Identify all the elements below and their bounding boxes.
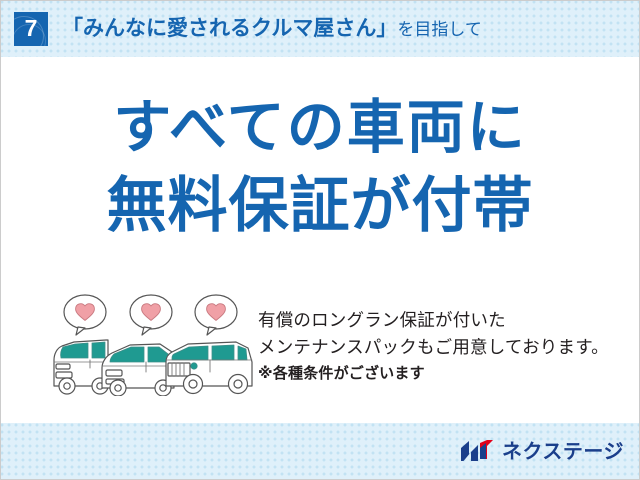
headline-line-1: すべての車両に bbox=[0, 98, 640, 156]
body-copy-line-2: メンテナンスパックもご用意しております。 bbox=[258, 335, 630, 362]
header-title-quoted: 「みんなに愛されるクルマ屋さん」 bbox=[62, 16, 397, 40]
body-copy-note: ※各種条件がございます bbox=[258, 361, 630, 387]
header: 7 「みんなに愛されるクルマ屋さん」を目指して bbox=[0, 0, 640, 57]
header-title: 「みんなに愛されるクルマ屋さん」を目指して bbox=[62, 18, 482, 39]
headline: すべての車両に 無料保証が付帯 bbox=[0, 98, 640, 236]
brand-logo: ネクステージ bbox=[460, 437, 624, 465]
promotional-slide: 7 「みんなに愛されるクルマ屋さん」を目指して すべての車両に 無料保証が付帯 bbox=[0, 0, 640, 480]
section-number-label: 7 bbox=[14, 12, 48, 46]
nexstage-n-mark-icon bbox=[460, 439, 494, 463]
brand-name-label: ネクステージ bbox=[502, 441, 624, 461]
body-copy: 有償のロングラン保証が付いた メンテナンスパックもご用意しております。 ※各種条… bbox=[258, 308, 630, 387]
headline-line-2: 無料保証が付帯 bbox=[0, 176, 640, 236]
section-number-badge: 7 bbox=[14, 12, 48, 46]
three-cars-with-heart-bubbles-illustration bbox=[48, 292, 263, 396]
body-copy-line-1: 有償のロングラン保証が付いた bbox=[258, 308, 630, 335]
header-title-tail: を目指して bbox=[397, 20, 482, 40]
